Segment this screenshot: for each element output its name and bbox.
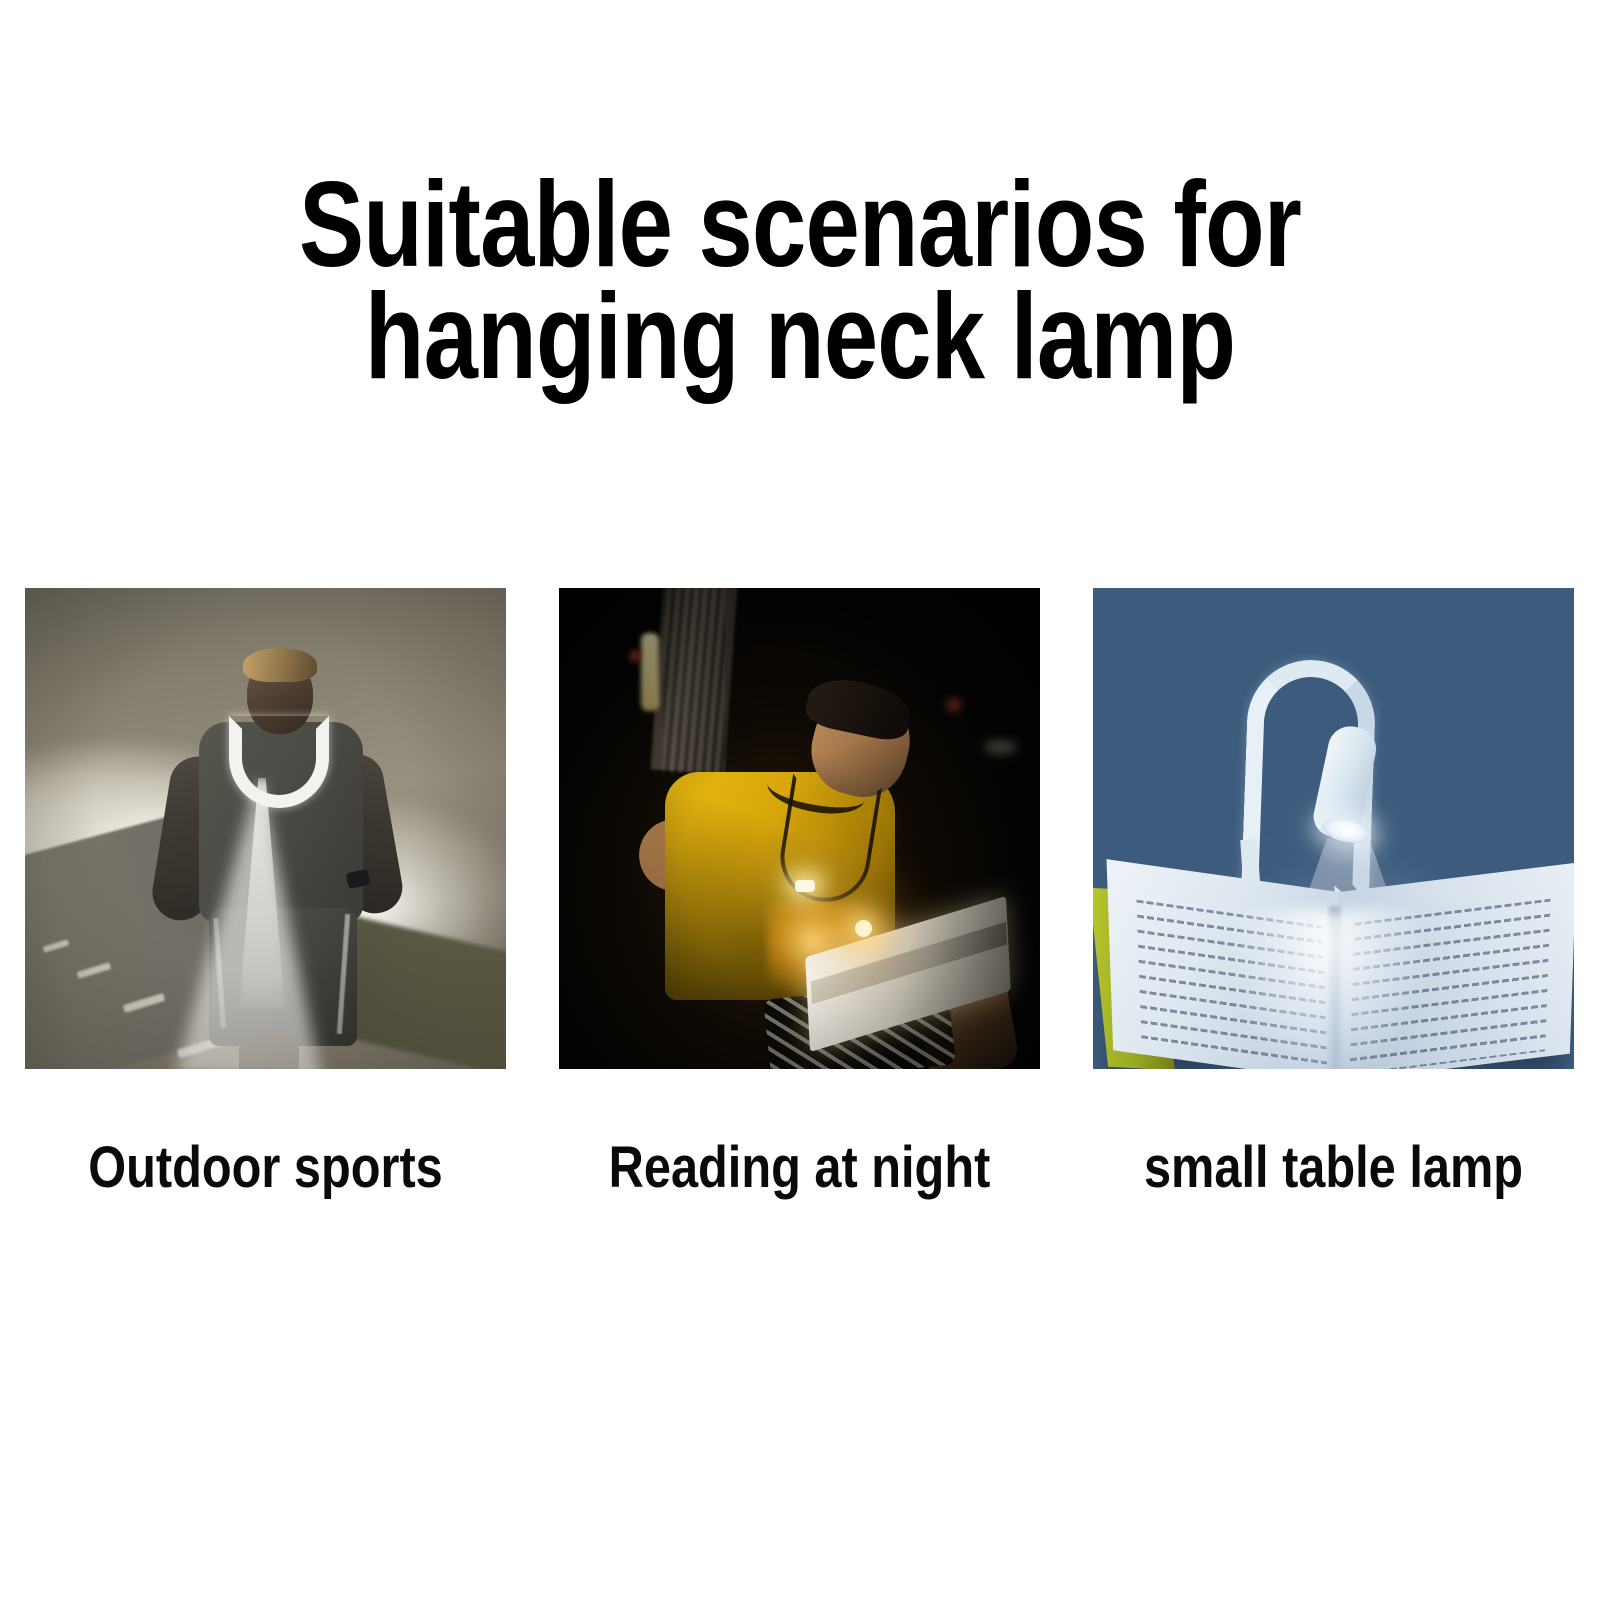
page-title: Suitable scenarios for hanging neck lamp [0, 168, 1600, 392]
caption-outdoor-sports: Outdoor sports [63, 1132, 467, 1212]
scenario-image-outdoor-sports [25, 588, 506, 1069]
page-highlight [1233, 909, 1423, 1069]
vignette-overlay [25, 588, 506, 1069]
caption-small-table-lamp: small table lamp [1131, 1132, 1535, 1212]
scenario-caption-row: Outdoor sports Reading at night small ta… [25, 1132, 1575, 1212]
scenario-image-reading-at-night [559, 588, 1040, 1069]
caption-reading-at-night: Reading at night [597, 1132, 1001, 1212]
page-title-line-1: Suitable scenarios for [160, 168, 1440, 280]
scenario-image-row [25, 588, 1575, 1070]
page-title-line-2: hanging neck lamp [160, 280, 1440, 392]
vignette-overlay [559, 588, 1040, 1069]
scenario-image-small-table-lamp [1093, 588, 1574, 1069]
